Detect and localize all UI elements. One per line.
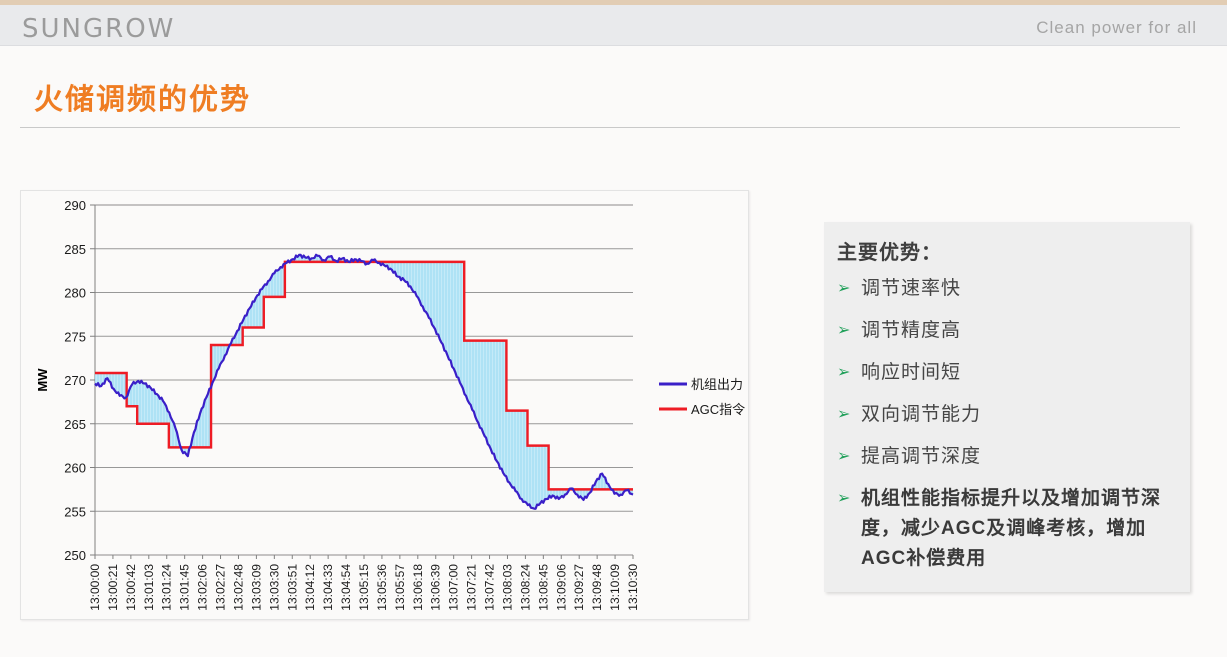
- svg-text:13:00:21: 13:00:21: [106, 564, 120, 611]
- svg-text:285: 285: [64, 242, 86, 257]
- svg-text:13:03:51: 13:03:51: [285, 564, 299, 611]
- advantage-item-label: 响应时间短: [861, 358, 961, 388]
- svg-text:13:04:12: 13:04:12: [303, 564, 317, 611]
- svg-text:13:10:30: 13:10:30: [626, 564, 640, 611]
- svg-text:13:08:03: 13:08:03: [500, 564, 514, 611]
- advantage-item-label: 调节精度高: [861, 316, 961, 346]
- svg-text:13:05:57: 13:05:57: [393, 564, 407, 611]
- svg-text:13:09:06: 13:09:06: [554, 564, 568, 611]
- svg-text:13:02:27: 13:02:27: [214, 564, 228, 611]
- arrow-bullet-icon: ➢: [837, 442, 861, 469]
- svg-text:13:01:45: 13:01:45: [178, 564, 192, 611]
- svg-text:13:01:24: 13:01:24: [160, 564, 174, 611]
- svg-text:13:10:09: 13:10:09: [608, 564, 622, 611]
- svg-text:265: 265: [64, 417, 86, 432]
- svg-text:13:06:18: 13:06:18: [411, 564, 425, 611]
- title-divider: [20, 127, 1180, 128]
- advantages-title: 主要优势：: [837, 236, 942, 265]
- svg-text:13:08:24: 13:08:24: [518, 564, 532, 611]
- advantage-item: ➢机组性能指标提升以及增加调节深度，减少AGC及调峰考核，增加AGC补偿费用: [837, 484, 1182, 574]
- svg-text:13:02:06: 13:02:06: [196, 564, 210, 611]
- arrow-bullet-icon: ➢: [837, 484, 861, 511]
- arrow-bullet-icon: ➢: [837, 274, 861, 301]
- svg-text:13:07:42: 13:07:42: [483, 564, 497, 611]
- sungrow-logo: SUNGROW: [22, 14, 175, 44]
- advantage-item-label: 双向调节能力: [861, 400, 981, 430]
- arrow-bullet-icon: ➢: [837, 316, 861, 343]
- chart-card: 250255260265270275280285290MW13:00:0013:…: [20, 190, 749, 620]
- svg-text:13:09:48: 13:09:48: [590, 564, 604, 611]
- svg-text:13:09:27: 13:09:27: [572, 564, 586, 611]
- svg-text:280: 280: [64, 286, 86, 301]
- svg-text:13:03:09: 13:03:09: [249, 564, 263, 611]
- header-tagline: Clean power for all: [1036, 18, 1197, 38]
- arrow-bullet-icon: ➢: [837, 358, 861, 385]
- arrow-bullet-icon: ➢: [837, 400, 861, 427]
- svg-text:290: 290: [64, 198, 86, 213]
- svg-text:250: 250: [64, 548, 86, 563]
- page-header: SUNGROW Clean power for all: [0, 5, 1227, 46]
- agc-response-chart: 250255260265270275280285290MW13:00:0013:…: [21, 191, 748, 619]
- advantages-panel: 主要优势： ➢调节速率快➢调节精度高➢响应时间短➢双向调节能力➢提高调节深度➢机…: [824, 222, 1190, 592]
- advantage-item-label: 提高调节深度: [861, 442, 981, 472]
- advantage-item: ➢调节速率快: [837, 274, 1182, 304]
- svg-text:13:00:42: 13:00:42: [124, 564, 138, 611]
- advantages-list: ➢调节速率快➢调节精度高➢响应时间短➢双向调节能力➢提高调节深度➢机组性能指标提…: [837, 274, 1182, 574]
- svg-text:270: 270: [64, 373, 86, 388]
- advantage-item: ➢调节精度高: [837, 316, 1182, 346]
- svg-text:13:06:39: 13:06:39: [429, 564, 443, 611]
- advantage-item-label: 机组性能指标提升以及增加调节深度，减少AGC及调峰考核，增加AGC补偿费用: [861, 484, 1182, 574]
- legend-label: AGC指令: [691, 402, 745, 417]
- page-title: 火储调频的优势: [34, 76, 251, 118]
- svg-text:13:07:21: 13:07:21: [465, 564, 479, 611]
- svg-text:13:00:00: 13:00:00: [88, 564, 102, 611]
- svg-text:MW: MW: [35, 368, 50, 392]
- advantage-item: ➢响应时间短: [837, 358, 1182, 388]
- svg-text:13:01:03: 13:01:03: [142, 564, 156, 611]
- svg-text:275: 275: [64, 329, 86, 344]
- svg-text:13:04:33: 13:04:33: [321, 564, 335, 611]
- svg-text:13:08:45: 13:08:45: [536, 564, 550, 611]
- svg-text:255: 255: [64, 504, 86, 519]
- svg-text:13:05:36: 13:05:36: [375, 564, 389, 611]
- svg-text:13:02:48: 13:02:48: [231, 564, 245, 611]
- svg-text:13:07:00: 13:07:00: [447, 564, 461, 611]
- svg-text:13:05:15: 13:05:15: [357, 564, 371, 611]
- advantage-item: ➢提高调节深度: [837, 442, 1182, 472]
- legend-label: 机组出力: [691, 377, 743, 392]
- advantage-item-label: 调节速率快: [861, 274, 961, 304]
- svg-text:13:03:30: 13:03:30: [267, 564, 281, 611]
- advantage-item: ➢双向调节能力: [837, 400, 1182, 430]
- svg-text:13:04:54: 13:04:54: [339, 564, 353, 611]
- svg-text:260: 260: [64, 461, 86, 476]
